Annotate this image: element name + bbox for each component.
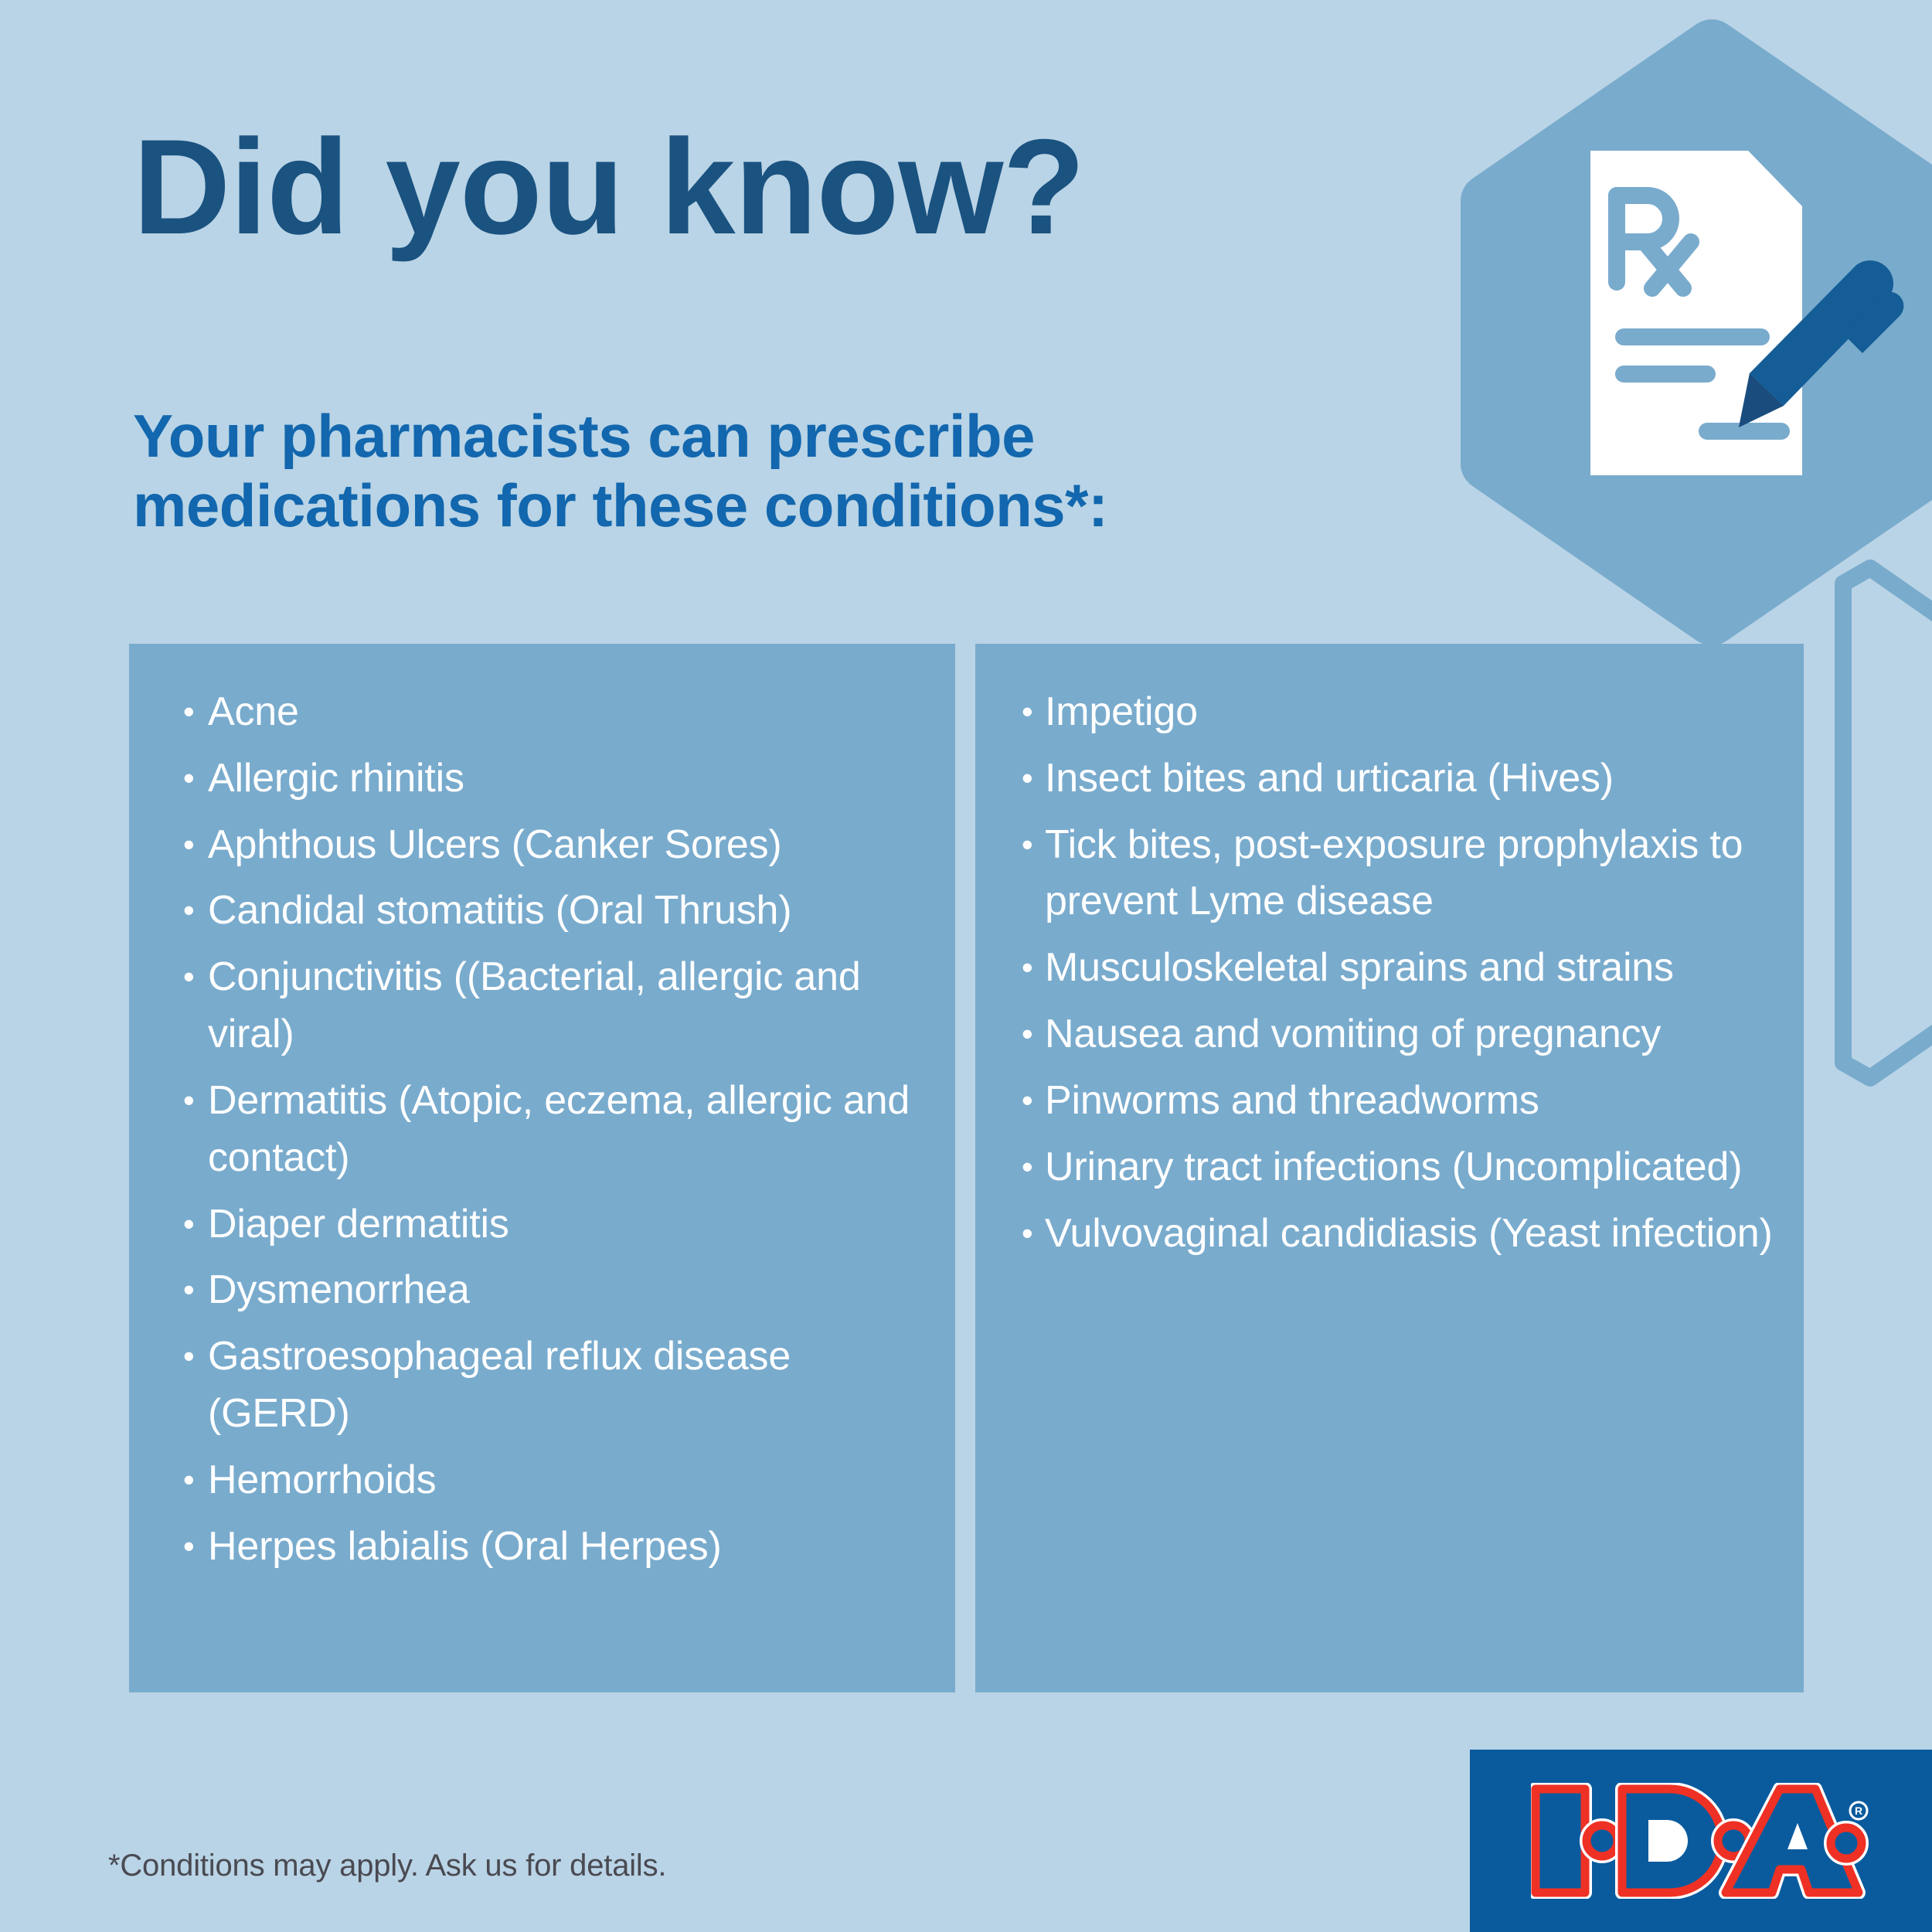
page-subtitle-line-1: Your pharmacists can prescribe — [133, 402, 1108, 471]
document-signature-line — [1699, 423, 1790, 440]
list-item: Urinary tract infections (Uncomplicated) — [1045, 1139, 1773, 1196]
list-item: Dermatitis (Atopic, eczema, allergic and… — [208, 1073, 924, 1187]
infographic-poster: Did you know? Your pharmacists can presc… — [0, 0, 1932, 1932]
ida-logo-letter-d — [1622, 1789, 1722, 1893]
list-item: Musculoskeletal sprains and strains — [1045, 940, 1773, 997]
ida-logo-letter-i — [1536, 1789, 1585, 1893]
conditions-panels: Acne Allergic rhinitis Aphthous Ulcers (… — [129, 644, 1804, 1692]
list-item: Allergic rhinitis — [208, 750, 924, 808]
ida-logo-box: R — [1470, 1750, 1932, 1932]
ida-logo-dot-1 — [1587, 1825, 1617, 1856]
list-item: Conjunctivitis ((Bacterial, allergic and… — [208, 949, 924, 1063]
conditions-list-right: Impetigo Insect bites and urticaria (Hiv… — [1006, 684, 1773, 1262]
list-item: Hemorrhoids — [208, 1452, 924, 1509]
document-fold-corner — [1748, 151, 1802, 206]
conditions-panel-right: Impetigo Insect bites and urticaria (Hiv… — [975, 644, 1804, 1692]
list-item: Pinworms and threadworms — [1045, 1073, 1773, 1130]
page-subtitle-line-2: medications for these conditions*: — [133, 471, 1108, 541]
list-item: Insect bites and urticaria (Hives) — [1045, 750, 1773, 808]
list-item: Impetigo — [1045, 684, 1773, 741]
list-item: Diaper dermatitis — [208, 1196, 924, 1253]
list-item: Candidal stomatitis (Oral Thrush) — [208, 883, 924, 940]
page-title: Did you know? — [133, 120, 1084, 255]
list-item: Acne — [208, 684, 924, 741]
conditions-list-left: Acne Allergic rhinitis Aphthous Ulcers (… — [160, 684, 924, 1576]
list-item: Herpes labialis (Oral Herpes) — [208, 1519, 924, 1576]
list-item: Vulvovaginal candidiasis (Yeast infectio… — [1045, 1206, 1773, 1263]
svg-text:R: R — [1855, 1804, 1862, 1817]
ida-logo-dot-3 — [1831, 1828, 1862, 1859]
list-item: Gastroesophageal reflux disease (GERD) — [208, 1328, 924, 1443]
rx-document-icon — [1584, 151, 1909, 475]
hexagon-outline-shape — [1843, 568, 1932, 1078]
footnote-disclaimer: *Conditions may apply. Ask us for detail… — [108, 1849, 666, 1883]
list-item: Dysmenorrhea — [208, 1262, 924, 1319]
conditions-panel-left: Acne Allergic rhinitis Aphthous Ulcers (… — [129, 644, 955, 1692]
document-line-1 — [1615, 328, 1770, 345]
list-item: Tick bites, post-exposure prophylaxis to… — [1045, 817, 1773, 931]
registered-trademark-icon: R — [1850, 1802, 1867, 1819]
document-line-2 — [1615, 366, 1716, 383]
page-subtitle: Your pharmacists can prescribe medicatio… — [133, 402, 1108, 540]
ida-logo: R — [1531, 1783, 1871, 1899]
list-item: Nausea and vomiting of pregnancy — [1045, 1006, 1773, 1063]
list-item: Aphthous Ulcers (Canker Sores) — [208, 817, 924, 874]
